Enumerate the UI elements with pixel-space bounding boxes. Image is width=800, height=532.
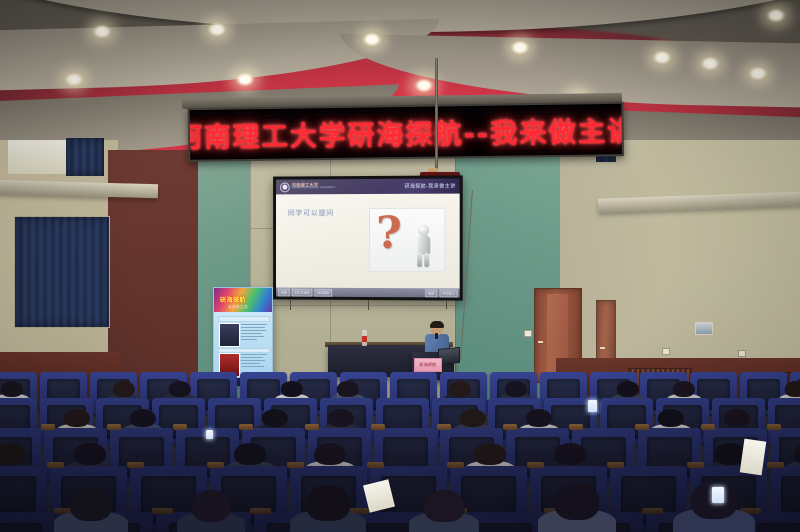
person-head — [113, 381, 135, 397]
foreground-attendee — [186, 494, 236, 532]
person-head — [785, 381, 800, 397]
foreground-attendee — [418, 494, 470, 532]
person-head — [169, 381, 191, 397]
downlight-3 — [510, 40, 530, 55]
person-head — [505, 381, 527, 397]
downlight-0 — [92, 24, 112, 39]
slide-body: 同学可以提问 ? — [276, 194, 460, 289]
person-head — [1, 381, 23, 397]
seat-armrest — [503, 424, 517, 430]
phone-screen[interactable] — [588, 400, 597, 412]
seat-armrest — [569, 424, 583, 430]
rollup-banner: 研海探航 我来做主讲 — [213, 287, 273, 382]
taskbar-item-2: 研海探航 — [314, 288, 332, 296]
rollup-photo-1 — [219, 323, 240, 347]
water-bottle-label — [362, 336, 367, 342]
person-head — [673, 381, 695, 397]
person-head — [281, 381, 303, 397]
seat-cushion — [757, 523, 800, 532]
slide-header-band: ⬤ 河南理工大学 HENAN POLYTECHNIC UNIVERSITY 研海… — [276, 178, 460, 194]
person-head — [314, 443, 346, 465]
question-mark-illustration: ? — [369, 208, 445, 273]
person-head — [74, 443, 106, 465]
attendee-head — [192, 490, 231, 523]
led-banner: 河南理工大学研海探航--我来做主讲 — [188, 102, 624, 162]
downlight-8 — [414, 78, 434, 93]
podium-sign-text: 研海探航 — [419, 362, 436, 368]
seat-armrest — [687, 462, 704, 468]
seat-armrest — [152, 508, 173, 514]
foreground-attendee — [548, 488, 606, 532]
speaker-hair — [430, 321, 444, 328]
upper-window-curtain-left — [66, 138, 104, 176]
taskbar-item-3: 播放 — [425, 289, 437, 297]
seat-armrest — [305, 424, 319, 430]
seat-armrest — [767, 462, 784, 468]
rollup-text-block-2 — [241, 354, 267, 369]
downlight-11 — [748, 66, 768, 81]
wall-picture — [695, 322, 713, 335]
slide-heading-text: 同学可以提问 — [288, 208, 334, 218]
person-head — [460, 409, 486, 427]
rollup-banner-title: 研海探航 — [220, 295, 246, 304]
projection-screen: ⬤ 河南理工大学 HENAN POLYTECHNIC UNIVERSITY 研海… — [273, 175, 463, 300]
seat-armrest — [287, 462, 304, 468]
attendee-head — [554, 483, 599, 520]
person-head — [724, 409, 750, 427]
slide-university-logo: ⬤ 河南理工大学 HENAN POLYTECHNIC UNIVERSITY — [280, 182, 336, 192]
person-head — [474, 443, 506, 465]
projected-slide: ⬤ 河南理工大学 HENAN POLYTECHNIC UNIVERSITY 研海… — [276, 178, 460, 297]
rollup-section-tab-1 — [218, 316, 270, 322]
seat-armrest — [173, 424, 187, 430]
rollup-text-block-1 — [241, 324, 267, 342]
seat-armrest — [701, 424, 715, 430]
wall-seam-5 — [250, 305, 455, 306]
thinking-figure-icon — [415, 225, 432, 267]
seat-armrest — [642, 508, 663, 514]
screen-cord-mid — [368, 300, 369, 310]
attendee-head — [70, 487, 112, 521]
microphone-icon — [435, 333, 438, 339]
person-head — [449, 381, 471, 397]
seat-armrest — [107, 424, 121, 430]
taskbar-status: 中文输入 — [439, 289, 457, 297]
seat-armrest — [437, 424, 451, 430]
led-banner-text: 河南理工大学研海探航--我来做主讲 — [188, 109, 624, 154]
university-seal-icon: ⬤ — [280, 182, 290, 192]
downlight-10 — [700, 56, 720, 71]
rollup-banner-header: 研海探航 我来做主讲 — [214, 288, 272, 312]
auditorium-photo: 河南理工大学研海探航--我来做主讲 ⬤ 河南理工大学 HENAN POLYTEC… — [0, 0, 800, 532]
taskbar-item-0: 开始 — [278, 288, 290, 296]
downlight-1 — [207, 22, 227, 37]
taskbar-item-1: 幻灯片放映 — [292, 288, 313, 296]
person-head — [337, 381, 359, 397]
person-head — [658, 409, 684, 427]
foreground-attendee — [300, 490, 356, 532]
seat-cushion — [0, 523, 42, 532]
seat-armrest — [41, 424, 55, 430]
seat-armrest — [367, 462, 384, 468]
rear-door-handle-icon[interactable] — [600, 347, 605, 349]
person-head — [554, 443, 586, 465]
attendee-head — [306, 485, 350, 521]
seat-armrest — [250, 508, 271, 514]
downlight-5 — [766, 8, 786, 23]
podium-sign: 研海探航 — [414, 358, 442, 372]
downlight-2 — [362, 32, 382, 47]
phone-screen[interactable] — [206, 430, 213, 439]
figure-body — [417, 235, 430, 255]
person-head — [526, 409, 552, 427]
auditorium-seat[interactable] — [0, 512, 55, 532]
person-head — [130, 409, 156, 427]
attendee-head — [424, 490, 465, 523]
downlight-6 — [64, 72, 84, 87]
question-mark-icon: ? — [376, 214, 402, 254]
slide-logo-subtext: HENAN POLYTECHNIC UNIVERSITY — [292, 187, 336, 190]
downlight-7 — [235, 72, 255, 87]
door-side-switch[interactable] — [524, 330, 532, 337]
rollup-banner-subtitle: 我来做主讲 — [228, 305, 248, 310]
seat-armrest — [607, 462, 624, 468]
person-head — [617, 381, 639, 397]
screen-cord-right — [446, 300, 447, 309]
foreground-attendee — [64, 492, 118, 532]
person-head — [64, 409, 90, 427]
downlight-4 — [652, 50, 672, 65]
person-head — [0, 443, 26, 465]
seat-armrest — [127, 462, 144, 468]
seat-armrest — [635, 424, 649, 430]
audience-seating — [0, 372, 800, 532]
figure-leg-left — [417, 253, 422, 267]
seat-armrest — [527, 462, 544, 468]
seat-armrest — [207, 462, 224, 468]
seat-armrest — [239, 424, 253, 430]
door-handle-icon[interactable] — [538, 341, 543, 343]
wall-outlet-left — [662, 348, 670, 355]
seat-armrest — [767, 424, 781, 430]
wall-outlet-right — [738, 350, 746, 357]
person-head — [262, 409, 288, 427]
phone-screen[interactable] — [712, 487, 724, 503]
projected-taskbar: 开始 幻灯片放映 研海探航 播放 中文输入 — [276, 288, 460, 298]
person-head — [328, 409, 354, 427]
figure-leg-right — [424, 253, 429, 267]
seat-armrest — [371, 424, 385, 430]
slide-header-title: 研海探航-我来做主讲 — [404, 183, 455, 190]
upper-window-left — [8, 140, 66, 174]
handout-paper — [740, 439, 767, 476]
screen-mount-pole — [435, 58, 438, 176]
screen-cord-left — [290, 300, 291, 310]
person-head — [234, 443, 266, 465]
seat-armrest — [47, 462, 64, 468]
window-curtain-left — [14, 216, 110, 328]
seat-armrest — [447, 462, 464, 468]
